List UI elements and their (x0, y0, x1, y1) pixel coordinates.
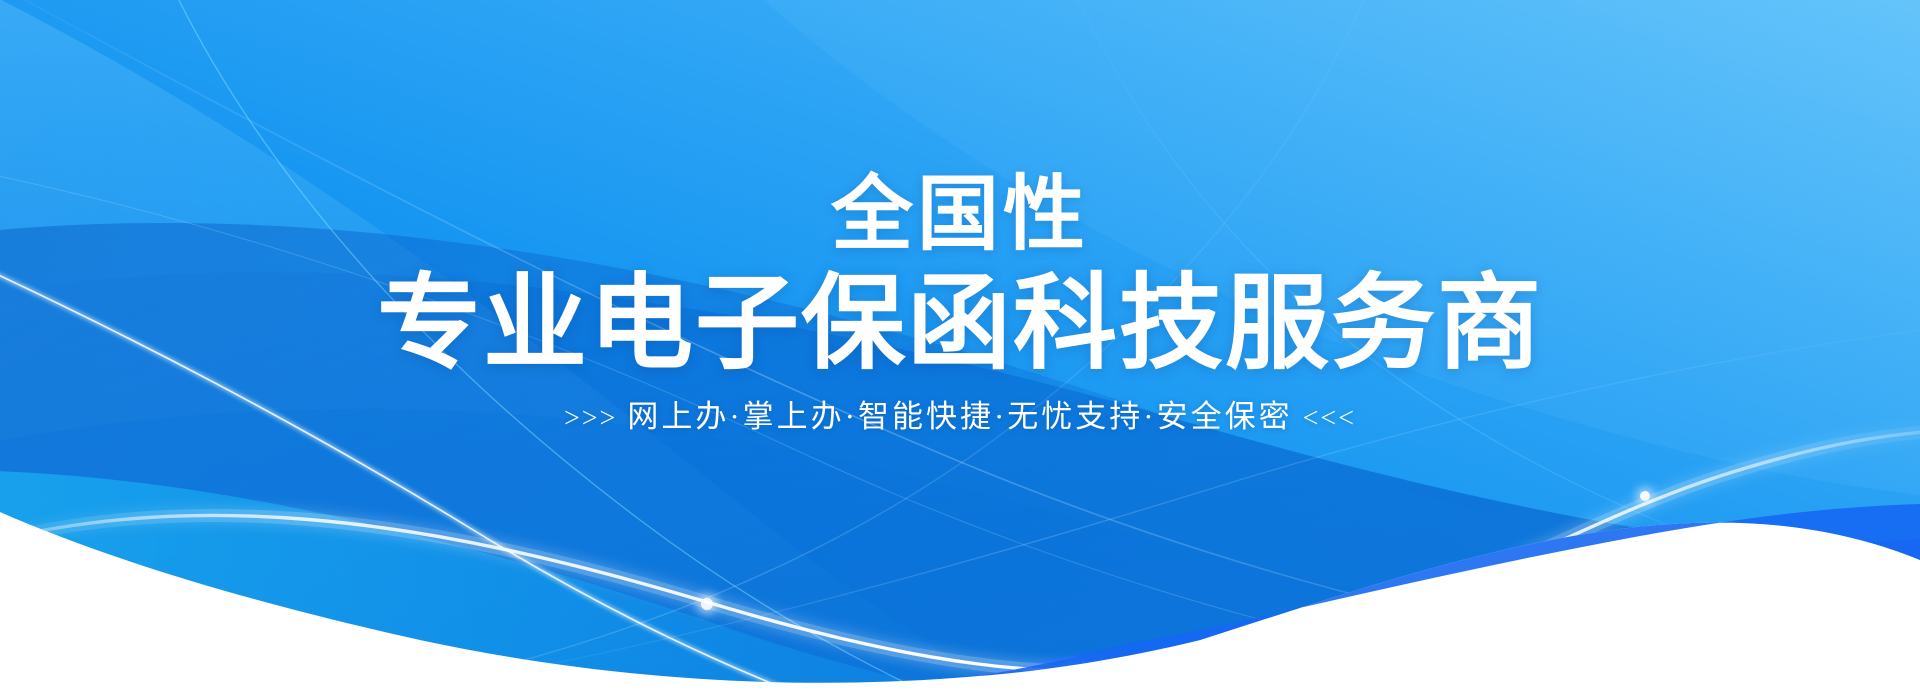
curve-node-right (1640, 491, 1650, 501)
banner-background-art (0, 0, 1920, 696)
curve-node-left (701, 598, 713, 610)
hero-banner: 全国性 专业电子保函科技服务商 >>>网上办·掌上办·智能快捷·无忧支持·安全保… (0, 0, 1920, 696)
